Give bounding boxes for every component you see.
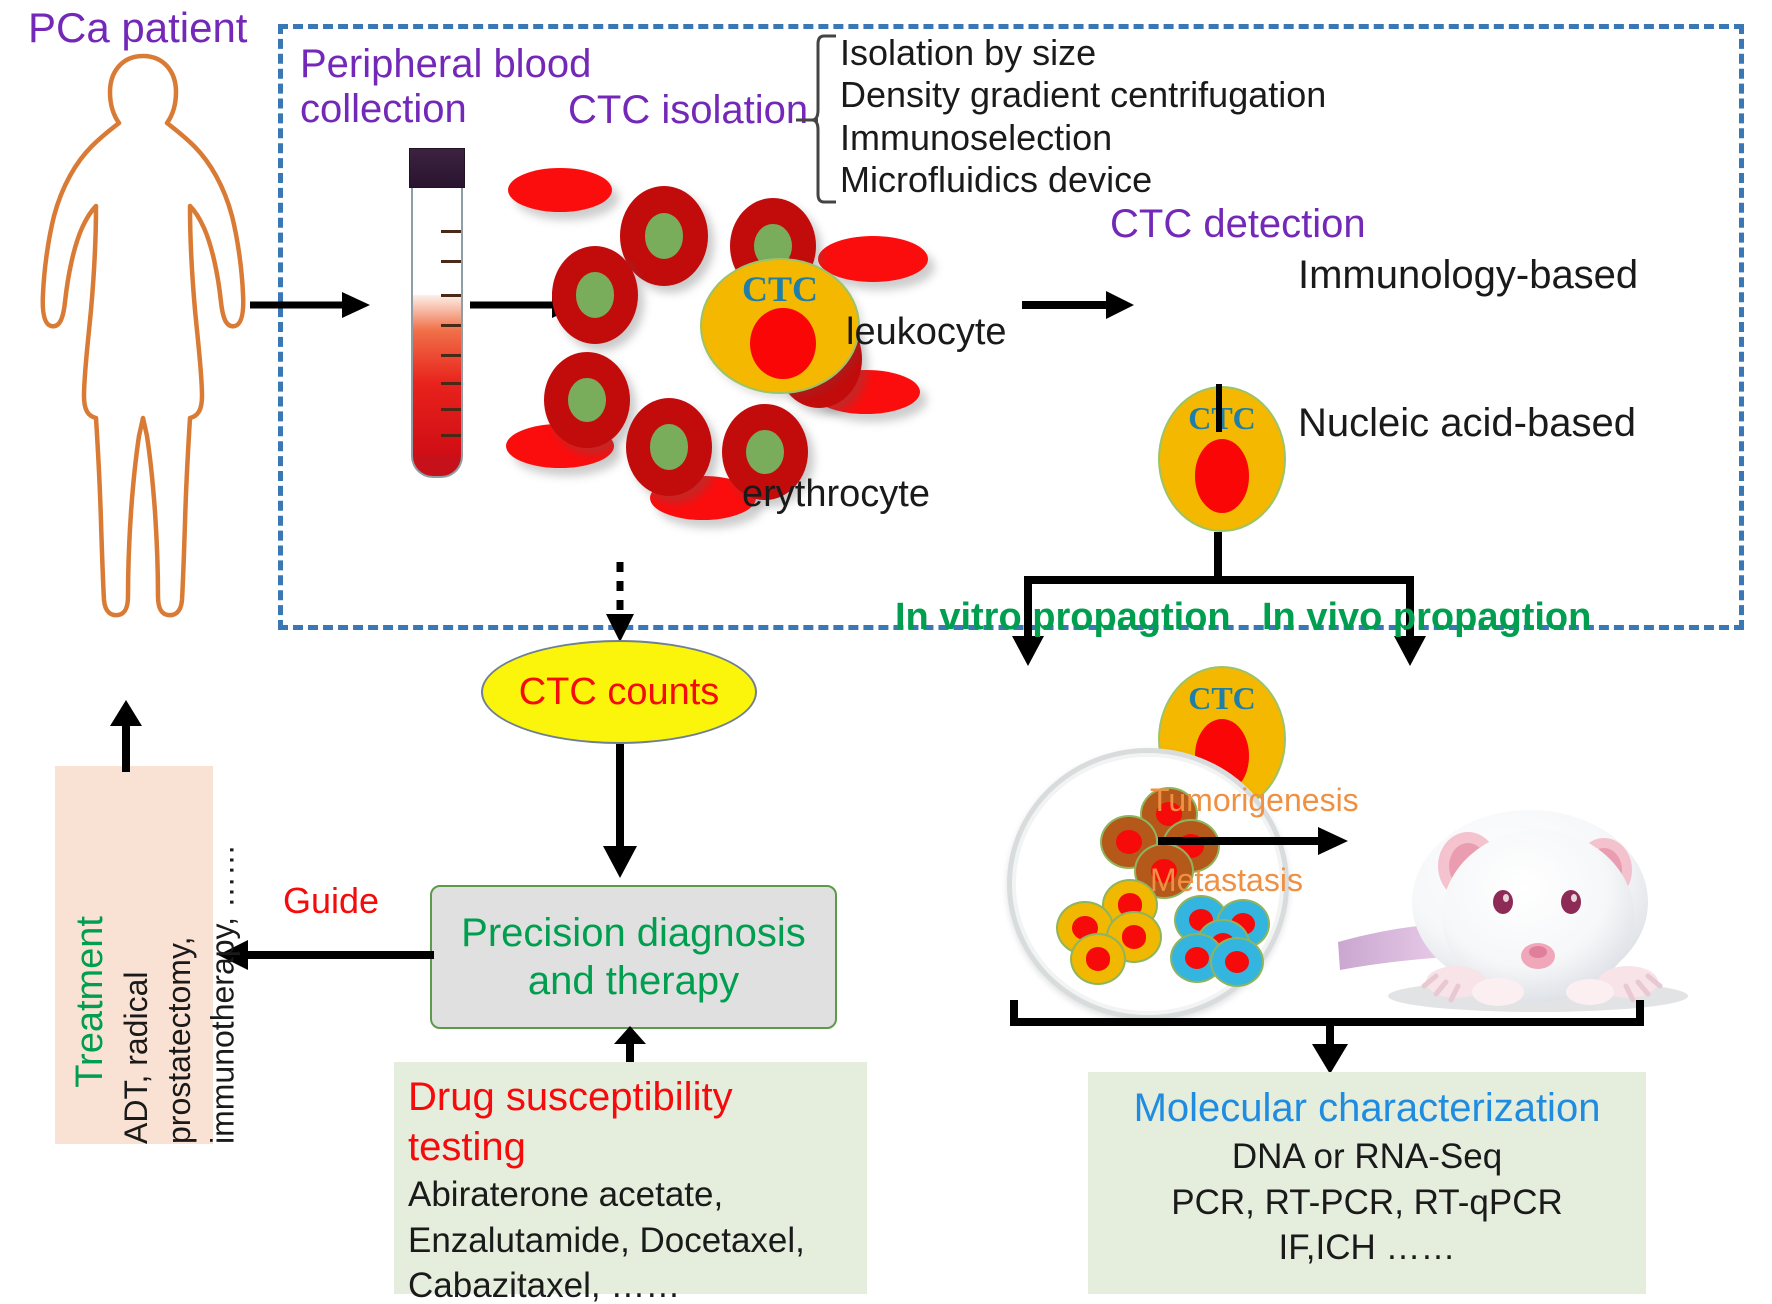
- nucleic-acid-based-label: Nucleic acid-based: [1298, 400, 1636, 447]
- in-vivo-propagation-label: In vivo propagtion: [1262, 596, 1591, 639]
- in-vitro-propagation-label: In vitro propagtion: [895, 596, 1231, 639]
- molecular-panel-line: PCR, RT-PCR, RT-qPCR: [1102, 1180, 1632, 1226]
- laboratory-mouse-icon: [1338, 770, 1734, 1020]
- tumorigenesis-label: Tumorigenesis: [1150, 782, 1359, 819]
- ctc-cell-label: CTC: [1160, 680, 1284, 717]
- erythrocyte-label: erythrocyte: [742, 472, 930, 517]
- ctc-cell-isolation: CTC: [700, 258, 860, 394]
- arrow-dashed-to-ctc-counts: [600, 562, 640, 644]
- leukocyte-shape: [544, 352, 630, 448]
- leukocyte-shape: [620, 186, 708, 286]
- arrow-cells-to-detection: [1022, 290, 1134, 320]
- treatment-heading: Treatment: [69, 916, 112, 1088]
- ctc-nucleus-shape: [750, 308, 816, 379]
- isolation-method-item: Density gradient centrifugation: [840, 74, 1326, 116]
- isolation-method-list: Isolation by size Density gradient centr…: [840, 32, 1326, 202]
- ctc-cell-immunology: CTC: [1158, 386, 1286, 532]
- guide-label: Guide: [283, 880, 379, 922]
- drug-susceptibility-node: Drug susceptibility testing Abiraterone …: [394, 1062, 867, 1294]
- drug-panel-line: Cabazitaxel, ……: [408, 1263, 853, 1304]
- arrow-counts-to-precision: [600, 744, 640, 880]
- ctc-nucleus-shape: [1195, 439, 1250, 513]
- leukocyte-shape: [626, 398, 712, 496]
- isolation-method-item: Microfluidics device: [840, 159, 1326, 201]
- blood-collection-tube-icon: [409, 148, 465, 478]
- drug-panel-line: Abiraterone acetate,: [408, 1172, 853, 1218]
- ctc-cell-label: CTC: [1160, 400, 1284, 437]
- arrow-treatment-to-patient: [108, 700, 144, 772]
- immunology-based-label: Immunology-based: [1298, 252, 1638, 299]
- ctc-detection-label: CTC detection: [1110, 202, 1366, 247]
- diagram-canvas: PCa patient Peripheral blood collection …: [0, 0, 1772, 1304]
- ctc-counts-label: CTC counts: [519, 671, 720, 714]
- isolation-method-item: Isolation by size: [840, 32, 1326, 74]
- erythrocyte-shape: [508, 168, 612, 212]
- peripheral-blood-collection-label: Peripheral blood collection: [300, 42, 600, 132]
- isolation-method-item: Immunoselection: [840, 117, 1326, 159]
- molecular-panel-line: DNA or RNA-Seq: [1102, 1134, 1632, 1180]
- leukocyte-shape: [552, 246, 638, 344]
- ctc-isolation-label: CTC isolation: [568, 88, 808, 133]
- treatment-body: ADT, radical prostatectomy, immunotherap…: [115, 780, 245, 1144]
- molecular-panel-heading: Molecular characterization: [1102, 1082, 1632, 1134]
- arrow-patient-to-tube: [250, 290, 370, 320]
- arrow-to-mouse: [1158, 826, 1348, 856]
- ctc-counts-node: CTC counts: [481, 640, 757, 744]
- drug-panel-heading: Drug susceptibility testing: [408, 1072, 853, 1172]
- treatment-node: Treatment ADT, radical prostatectomy, im…: [55, 766, 213, 1144]
- merge-to-molecular-connector: [1008, 1000, 1648, 1076]
- molecular-characterization-node: Molecular characterization DNA or RNA-Se…: [1088, 1072, 1646, 1294]
- molecular-panel-line: IF,ICH ……: [1102, 1225, 1632, 1271]
- precision-diagnosis-label: Precision diagnosis and therapy: [461, 909, 806, 1005]
- metastasis-label: Metastasis: [1150, 862, 1303, 899]
- ctc-cell-label: CTC: [702, 268, 858, 310]
- leukocyte-label: leukocyte: [846, 310, 1007, 355]
- patient-silhouette-icon: [18, 44, 268, 624]
- drug-panel-line: Enzalutamide, Docetaxel,: [408, 1218, 853, 1264]
- precision-diagnosis-node: Precision diagnosis and therapy: [430, 885, 837, 1029]
- arrow-precision-to-treatment: [218, 940, 434, 970]
- detection-connector-line: [1216, 384, 1222, 432]
